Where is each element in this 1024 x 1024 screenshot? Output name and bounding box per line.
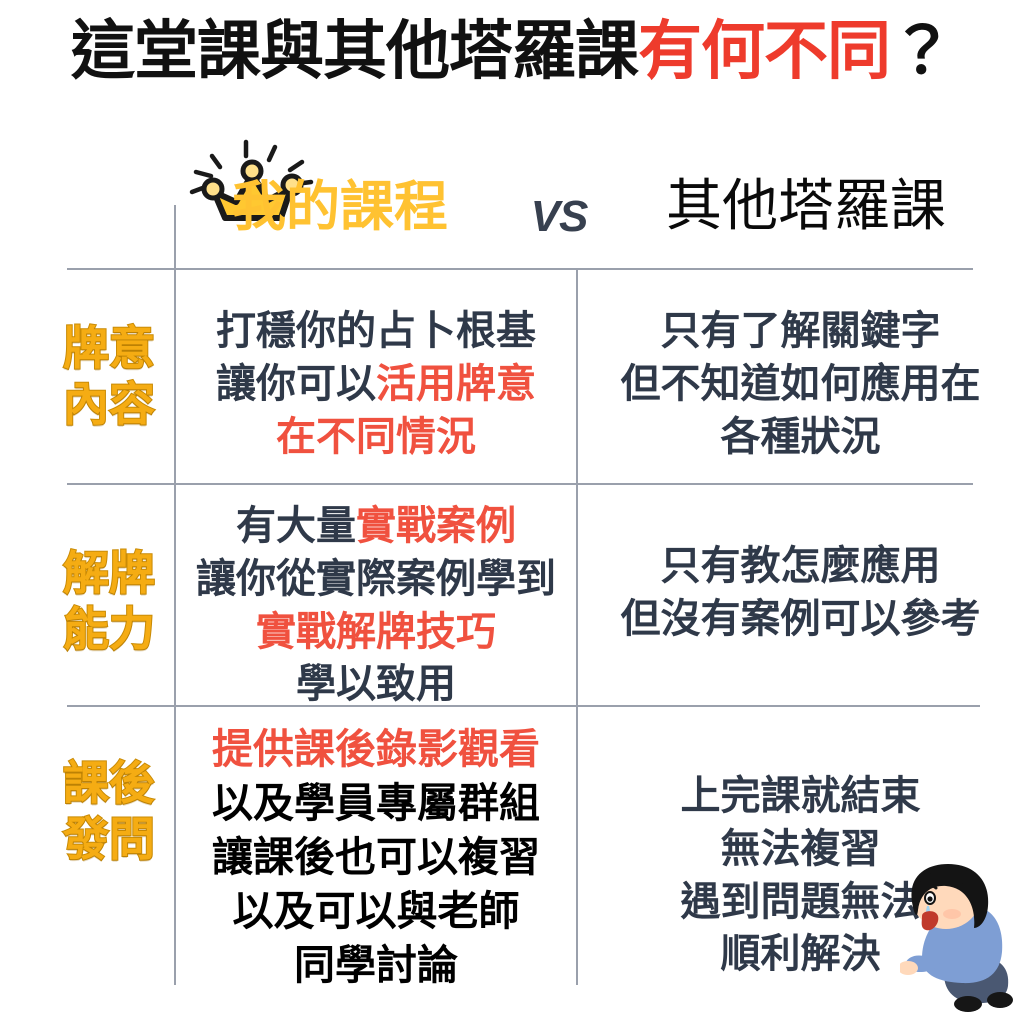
text-line: 但沒有案例可以參考 bbox=[577, 593, 1024, 646]
text-line: 讓課後也可以複習 bbox=[175, 830, 577, 884]
text-line: 實戰解牌技巧 bbox=[175, 606, 577, 659]
text-segment: 同學討論 bbox=[294, 942, 458, 988]
text-segment: 打穩你的占卜根基 bbox=[216, 309, 536, 353]
text-line: 有大量實戰案例 bbox=[175, 500, 577, 553]
text-line: 只有教怎麼應用 bbox=[577, 540, 1024, 593]
text-line: 學以致用 bbox=[175, 658, 577, 711]
text-segment: 實戰解牌技巧 bbox=[256, 610, 496, 654]
text-line: 在不同情況 bbox=[175, 411, 577, 464]
comparison-infographic: 這堂課與其他塔羅課有何不同？ 我的課程 VS 其他塔羅課 牌意 內容 解牌 能力… bbox=[0, 0, 1024, 1024]
text-segment: 遇到問題無法 bbox=[681, 880, 921, 924]
grid-hline-mid1 bbox=[67, 483, 973, 485]
text-line: 上完課就結束 bbox=[577, 770, 1024, 823]
cell-other-row2: 只有教怎麼應用但沒有案例可以參考 bbox=[577, 540, 1024, 646]
text-line: 只有了解關鍵字 bbox=[577, 305, 1024, 358]
cell-mine-row1: 打穩你的占卜根基讓你可以活用牌意在不同情況 bbox=[175, 305, 577, 463]
text-line: 以及可以與老師 bbox=[175, 884, 577, 938]
text-line: 讓你可以活用牌意 bbox=[175, 358, 577, 411]
text-segment: 順利解決 bbox=[721, 932, 881, 976]
row-label-card-meaning: 牌意 內容 bbox=[40, 320, 178, 432]
text-segment: 實戰案例 bbox=[356, 504, 516, 548]
grid-hline-top bbox=[67, 268, 973, 270]
row-label-after-class-qa: 課後 發問 bbox=[40, 755, 178, 867]
text-line: 打穩你的占卜根基 bbox=[175, 305, 577, 358]
text-segment: 提供課後錄影觀看 bbox=[212, 726, 540, 772]
text-segment: 讓課後也可以複習 bbox=[212, 834, 540, 880]
text-segment: 學以致用 bbox=[296, 662, 456, 706]
header-my-course: 我的課程 bbox=[175, 178, 505, 237]
text-segment: 但沒有案例可以參考 bbox=[621, 597, 981, 641]
page-title: 這堂課與其他塔羅課有何不同？ bbox=[0, 18, 1024, 85]
title-black-text: 這堂課與其他塔羅課 bbox=[71, 15, 638, 87]
text-segment: 但不知道如何應用在 bbox=[621, 362, 981, 406]
header-other-courses: 其他塔羅課 bbox=[606, 174, 1006, 241]
text-segment: 只有教怎麼應用 bbox=[661, 544, 941, 588]
text-line: 同學討論 bbox=[175, 938, 577, 992]
text-segment: 只有了解關鍵字 bbox=[661, 309, 941, 353]
text-segment: 以及可以與老師 bbox=[233, 888, 520, 934]
crying-person-illustration bbox=[900, 862, 1024, 1022]
text-segment: 無法複習 bbox=[721, 827, 881, 871]
text-segment: 讓你從實際案例學到 bbox=[196, 557, 556, 601]
cell-other-row1: 只有了解關鍵字但不知道如何應用在各種狀況 bbox=[577, 305, 1024, 463]
header-vs-label: VS bbox=[516, 192, 602, 242]
text-segment: 以及學員專屬群組 bbox=[212, 780, 540, 826]
title-red-text: 有何不同 bbox=[638, 15, 890, 87]
text-segment: 在不同情況 bbox=[276, 415, 476, 459]
text-line: 各種狀況 bbox=[577, 411, 1024, 464]
text-line: 但不知道如何應用在 bbox=[577, 358, 1024, 411]
row-label-reading-ability: 解牌 能力 bbox=[40, 545, 178, 657]
text-line: 以及學員專屬群組 bbox=[175, 776, 577, 830]
cell-mine-row2: 有大量實戰案例讓你從實際案例學到實戰解牌技巧學以致用 bbox=[175, 500, 577, 711]
text-segment: 活用牌意 bbox=[376, 362, 536, 406]
text-segment: 有大量 bbox=[236, 504, 356, 548]
text-segment: 上完課就結束 bbox=[681, 774, 921, 818]
text-line: 提供課後錄影觀看 bbox=[175, 722, 577, 776]
title-question-mark: ？ bbox=[890, 15, 953, 87]
text-segment: 讓你可以 bbox=[216, 362, 376, 406]
text-line: 讓你從實際案例學到 bbox=[175, 553, 577, 606]
table-header: 我的課程 VS 其他塔羅課 bbox=[0, 178, 1024, 270]
cell-mine-row3: 提供課後錄影觀看以及學員專屬群組讓課後也可以複習以及可以與老師同學討論 bbox=[175, 722, 577, 993]
text-segment: 各種狀況 bbox=[721, 415, 881, 459]
